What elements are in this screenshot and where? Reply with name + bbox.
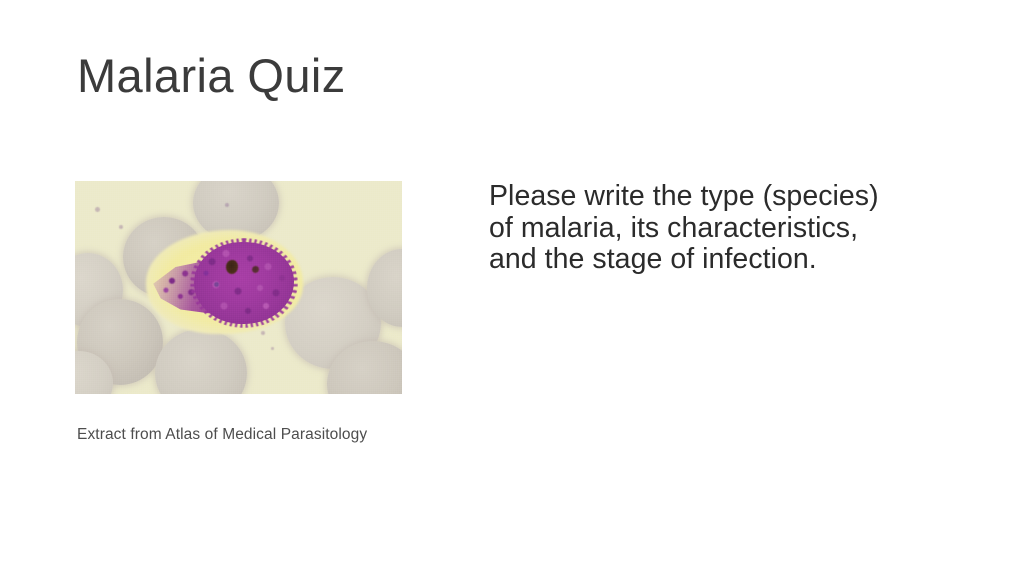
stain-speck — [261, 331, 265, 335]
parasite-chromatin-stipple — [194, 242, 294, 324]
stain-speck — [95, 207, 100, 212]
blood-smear-micrograph — [75, 181, 402, 394]
figure-caption: Extract from Atlas of Medical Parasitolo… — [77, 426, 367, 444]
question-prompt-line: Please write the type (species) — [489, 181, 941, 213]
page-title: Malaria Quiz — [77, 52, 346, 99]
stain-speck — [119, 225, 123, 229]
micrograph-figure — [75, 181, 402, 394]
stain-speck — [271, 347, 274, 350]
slide-canvas: Malaria Quiz — [0, 0, 1024, 576]
question-prompt: Please write the type (species) of malar… — [489, 181, 941, 276]
question-prompt-line: of malaria, its characteristics, — [489, 213, 941, 245]
question-prompt-line: and the stage of infection. — [489, 244, 941, 276]
stain-speck — [225, 203, 229, 207]
infected-red-blood-cell — [152, 236, 297, 328]
red-blood-cell — [155, 329, 247, 394]
